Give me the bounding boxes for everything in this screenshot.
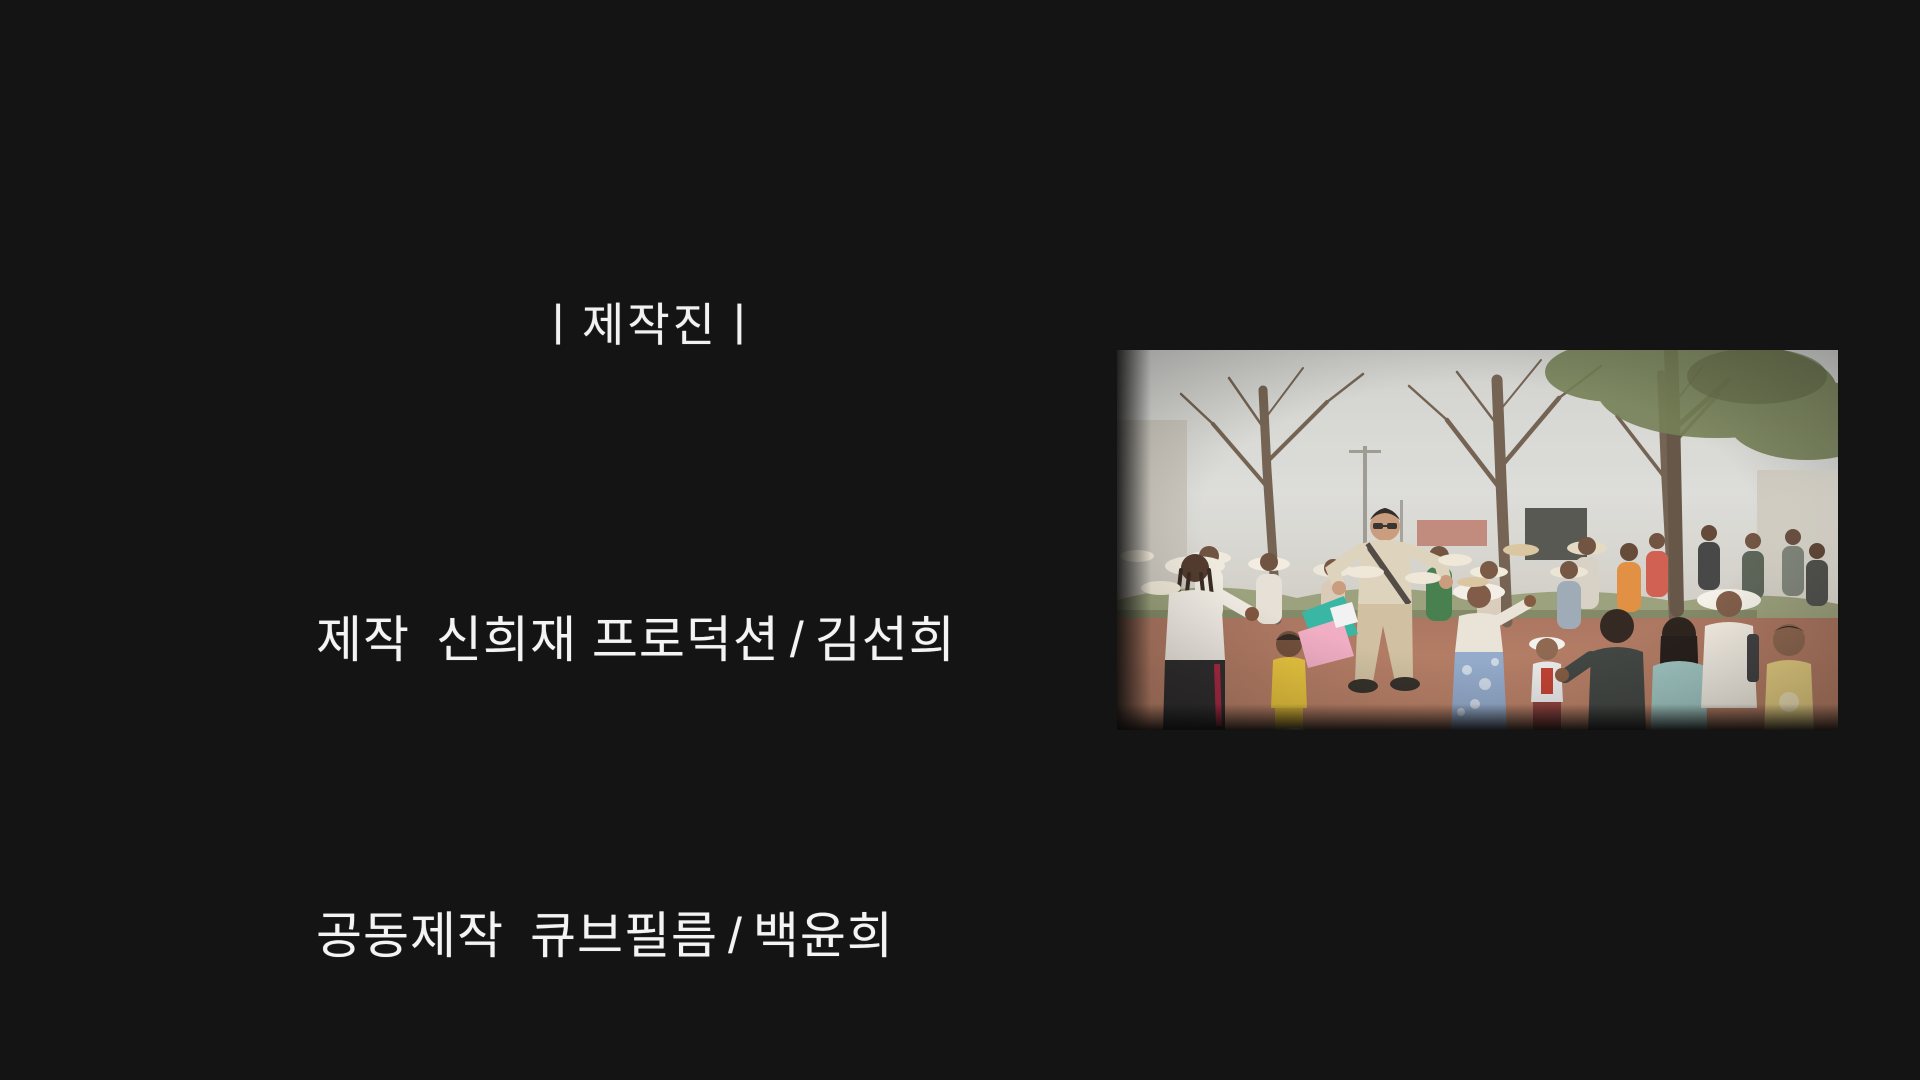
credit-line-coproduction: 공동제작큐브필름/백윤희 bbox=[316, 908, 894, 962]
credits-heading: ㅣ제작진ㅣ bbox=[0, 300, 1300, 351]
credit-company-label: 신희재 프로덕션 bbox=[436, 612, 780, 668]
video-scene-illustration bbox=[1117, 350, 1838, 730]
credit-separator-2: / bbox=[728, 908, 743, 962]
credit-company-label-2: 큐브필름 bbox=[530, 908, 718, 962]
credit-role-label-2: 공동제작 bbox=[316, 908, 504, 962]
credit-person-label: 김선희 bbox=[815, 612, 956, 668]
credit-person-label-2: 백윤희 bbox=[753, 908, 894, 962]
credit-line-coproduction-clip: 공동제작큐브필름/백윤희 bbox=[0, 908, 1100, 962]
credits-screen: ㅣ제작진ㅣ 제작신희재 프로덕션/김선희 공동제작큐브필름/백윤희 bbox=[0, 0, 1920, 1080]
credit-separator: / bbox=[790, 612, 805, 668]
credits-column: ㅣ제작진ㅣ 제작신희재 프로덕션/김선희 공동제작큐브필름/백윤희 bbox=[0, 0, 1100, 1080]
video-thumbnail[interactable] bbox=[1117, 350, 1838, 730]
credit-role-label: 제작 bbox=[316, 612, 410, 668]
credit-line-production: 제작신희재 프로덕션/김선희 bbox=[316, 612, 956, 670]
